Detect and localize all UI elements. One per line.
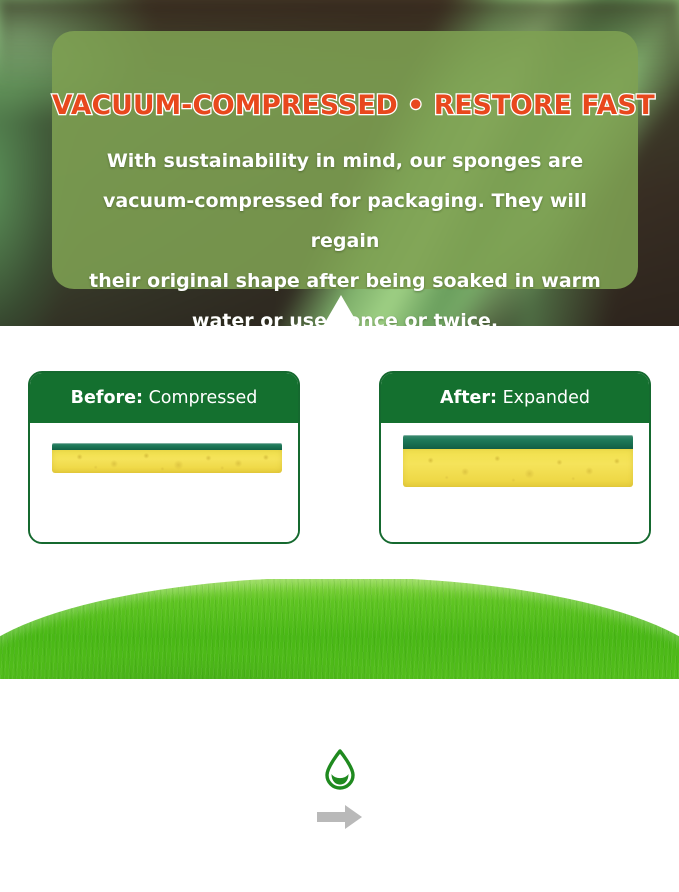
after-card: After: Expanded bbox=[379, 371, 651, 544]
compressed-sponge-image bbox=[52, 443, 282, 473]
after-card-header: After: Expanded bbox=[381, 373, 649, 423]
comparison-section: Before: Compressed After: Expanded bbox=[0, 326, 679, 566]
grass-footer bbox=[0, 579, 679, 679]
hero-section: VACUUM-COMPRESSED • RESTORE FAST With su… bbox=[0, 0, 679, 326]
before-label-strong: Before: bbox=[71, 388, 143, 408]
transition-icons bbox=[303, 652, 376, 892]
feature-panel: VACUUM-COMPRESSED • RESTORE FAST With su… bbox=[52, 31, 638, 289]
after-label-strong: After: bbox=[440, 388, 497, 408]
feature-title: VACUUM-COMPRESSED • RESTORE FAST bbox=[52, 90, 638, 121]
after-card-body bbox=[381, 423, 649, 544]
sponge-scrub-layer bbox=[403, 435, 633, 450]
feature-description-line: vacuum-compressed for packaging. They wi… bbox=[82, 181, 608, 261]
grass-hill bbox=[0, 579, 679, 679]
grass-texture bbox=[0, 579, 679, 679]
section-pointer-triangle bbox=[323, 295, 359, 326]
after-card-label: After: Expanded bbox=[440, 388, 590, 408]
sponge-foam-layer bbox=[52, 450, 282, 473]
before-label-light: Compressed bbox=[143, 388, 257, 408]
after-label-light: Expanded bbox=[497, 388, 590, 408]
sponge-foam-layer bbox=[403, 449, 633, 487]
before-card: Before: Compressed bbox=[28, 371, 300, 544]
before-card-label: Before: Compressed bbox=[71, 388, 258, 408]
before-card-header: Before: Compressed bbox=[30, 373, 298, 423]
before-card-body bbox=[30, 423, 298, 544]
water-drop-icon bbox=[303, 748, 376, 797]
right-arrow-icon bbox=[303, 802, 376, 837]
feature-description-line: With sustainability in mind, our sponges… bbox=[82, 141, 608, 181]
expanded-sponge-image bbox=[403, 435, 633, 487]
